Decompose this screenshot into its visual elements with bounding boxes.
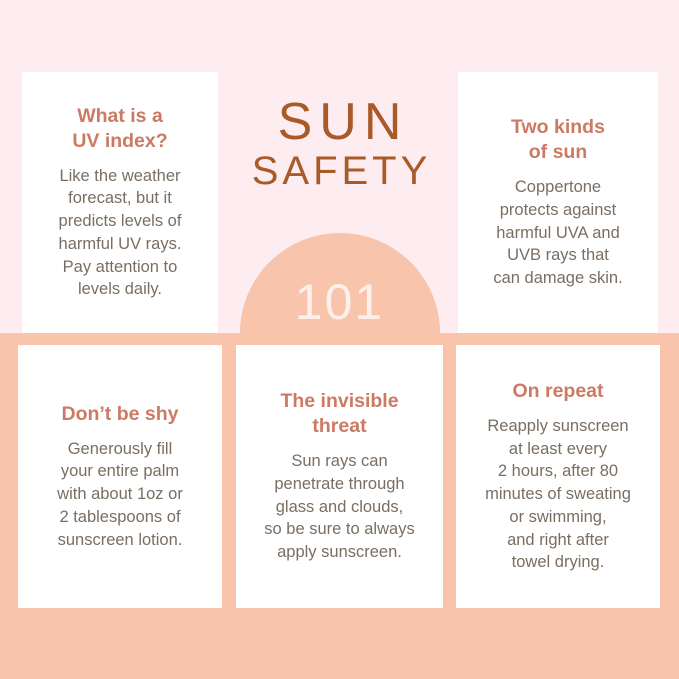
sun-safety-infographic: SUN SAFETY 101 What is a UV index? Like … [0, 0, 679, 679]
card-dont-be-shy: Don’t be shy Generously fill your entire… [18, 345, 222, 608]
poster-number-101: 101 [232, 277, 447, 327]
card-dont-be-shy-heading: Don’t be shy [61, 402, 178, 427]
card-invisible-threat-body: Sun rays can penetrate through glass and… [264, 450, 414, 564]
card-on-repeat-heading: On repeat [512, 379, 603, 404]
card-dont-be-shy-body: Generously fill your entire palm with ab… [57, 438, 183, 552]
poster-title: SUN SAFETY [232, 96, 447, 192]
card-invisible-threat-heading: The invisible threat [280, 389, 398, 439]
card-on-repeat-body: Reapply sunscreen at least every 2 hours… [485, 415, 631, 574]
card-two-kinds-of-sun-body: Coppertone protects against harmful UVA … [493, 176, 622, 290]
poster-title-line1: SUN [232, 96, 447, 149]
card-uv-index-heading: What is a UV index? [72, 104, 167, 154]
card-uv-index: What is a UV index? Like the weather for… [22, 72, 218, 333]
poster-title-line2: SAFETY [232, 151, 447, 192]
card-on-repeat: On repeat Reapply sunscreen at least eve… [456, 345, 660, 608]
card-two-kinds-of-sun: Two kinds of sun Coppertone protects aga… [458, 72, 658, 333]
card-uv-index-body: Like the weather forecast, but it predic… [59, 165, 182, 302]
hero-title-block: SUN SAFETY 101 [232, 72, 447, 333]
card-two-kinds-of-sun-heading: Two kinds of sun [511, 115, 605, 165]
card-invisible-threat: The invisible threat Sun rays can penetr… [236, 345, 443, 608]
